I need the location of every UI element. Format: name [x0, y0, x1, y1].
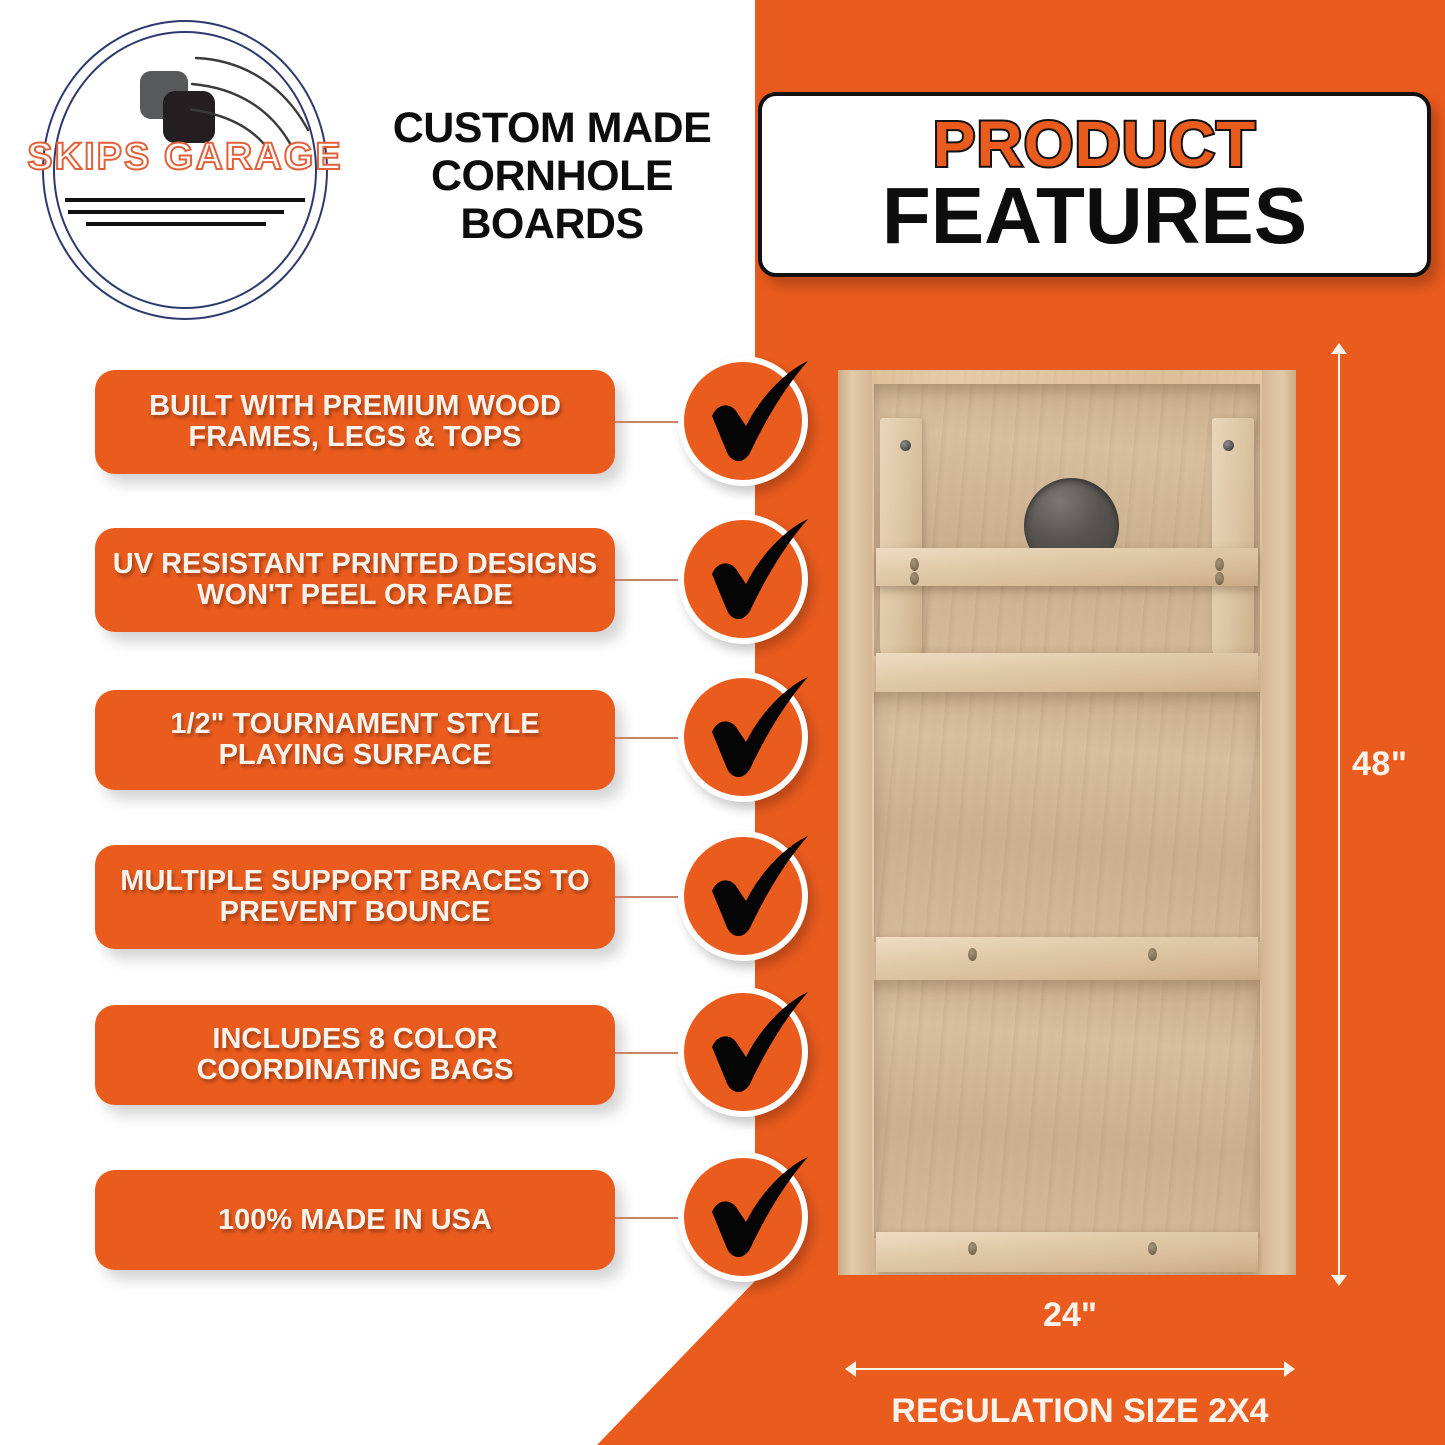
- height-dimension-arrow: [1338, 352, 1340, 1277]
- width-dimension-arrow: [855, 1368, 1285, 1370]
- feature-check-badge: [678, 672, 808, 802]
- feature-label: MULTIPLE SUPPORT BRACES TO PREVENT BOUNC…: [111, 866, 599, 927]
- feature-row: INCLUDES 8 COLOR COORDINATING BAGS: [0, 1005, 830, 1155]
- checkmark-icon: [684, 664, 814, 794]
- page-title: CUSTOM MADE CORNHOLE BOARDS: [352, 104, 752, 248]
- brace-screw: [910, 572, 919, 585]
- leg-bolt-left: [900, 440, 911, 451]
- brace-screw: [1148, 948, 1157, 961]
- board-leg-right: [1212, 418, 1254, 658]
- arrow-up-icon: [1331, 343, 1347, 354]
- board-support-brace: [876, 548, 1258, 586]
- feature-label: INCLUDES 8 COLOR COORDINATING BAGS: [111, 1024, 599, 1085]
- feature-check-badge: [678, 514, 808, 644]
- brace-screw: [968, 948, 977, 961]
- checkmark-icon: [684, 1144, 814, 1274]
- brand-logo[interactable]: SKIPS GARAGE: [20, 16, 350, 328]
- leg-bolt-right: [1223, 440, 1234, 451]
- logo-underline-3: [86, 222, 266, 226]
- board-rail-left: [838, 370, 872, 1275]
- feature-label: BUILT WITH PREMIUM WOOD FRAMES, LEGS & T…: [111, 391, 599, 452]
- logo-wordmark: SKIPS GARAGE: [20, 136, 350, 179]
- feature-row: 1/2" TOURNAMENT STYLE PLAYING SURFACE: [0, 690, 830, 840]
- arrow-down-icon: [1331, 1275, 1347, 1286]
- feature-row: UV RESISTANT PRINTED DESIGNS WON'T PEEL …: [0, 528, 830, 678]
- board-support-brace: [876, 937, 1258, 981]
- board-leg-left: [880, 418, 922, 658]
- logo-underline-group: [20, 198, 350, 234]
- product-features-banner: PRODUCT FEATURES: [758, 92, 1431, 277]
- brace-screw: [1215, 558, 1224, 571]
- banner-title-product: PRODUCT: [933, 114, 1256, 175]
- arrow-left-icon: [845, 1361, 856, 1377]
- checkmark-icon: [684, 506, 814, 636]
- brace-screw: [910, 558, 919, 571]
- feature-pill[interactable]: UV RESISTANT PRINTED DESIGNS WON'T PEEL …: [95, 528, 615, 632]
- feature-pill[interactable]: 100% MADE IN USA: [95, 1170, 615, 1270]
- brace-screw: [1215, 572, 1224, 585]
- board-rail-right: [1262, 370, 1296, 1275]
- feature-check-badge: [678, 987, 808, 1117]
- board-bottom-rail: [876, 1232, 1258, 1272]
- checkmark-icon: [684, 979, 814, 1109]
- product-photo: [838, 370, 1296, 1275]
- arrow-right-icon: [1284, 1361, 1295, 1377]
- checkmark-icon: [684, 823, 814, 953]
- board-cavity-bottom: [874, 980, 1260, 1238]
- infographic-stage: SKIPS GARAGE CUSTOM MADE CORNHOLE BOARDS…: [0, 0, 1445, 1445]
- feature-label: 100% MADE IN USA: [218, 1205, 492, 1236]
- feature-pill[interactable]: INCLUDES 8 COLOR COORDINATING BAGS: [95, 1005, 615, 1105]
- feature-row: MULTIPLE SUPPORT BRACES TO PREVENT BOUNC…: [0, 845, 830, 995]
- feature-label: UV RESISTANT PRINTED DESIGNS WON'T PEEL …: [111, 549, 599, 610]
- logo-underline-2: [68, 210, 284, 214]
- checkmark-icon: [684, 348, 814, 478]
- feature-row: 100% MADE IN USA: [0, 1170, 830, 1320]
- board-support-brace: [876, 653, 1258, 695]
- feature-check-badge: [678, 356, 808, 486]
- feature-pill[interactable]: 1/2" TOURNAMENT STYLE PLAYING SURFACE: [95, 690, 615, 790]
- feature-row: BUILT WITH PREMIUM WOOD FRAMES, LEGS & T…: [0, 370, 830, 520]
- logo-underline-1: [65, 198, 305, 202]
- feature-check-badge: [678, 831, 808, 961]
- feature-pill[interactable]: BUILT WITH PREMIUM WOOD FRAMES, LEGS & T…: [95, 370, 615, 474]
- feature-pill[interactable]: MULTIPLE SUPPORT BRACES TO PREVENT BOUNC…: [95, 845, 615, 949]
- brace-screw: [1148, 1242, 1157, 1255]
- regulation-size-note: REGULATION SIZE 2X4: [845, 1392, 1315, 1431]
- banner-title-features: FEATURES: [882, 178, 1307, 255]
- board-cavity-middle: [874, 692, 1260, 942]
- feature-check-badge: [678, 1152, 808, 1282]
- height-dimension-label: 48": [1352, 745, 1407, 784]
- width-dimension-label: 24": [855, 1296, 1285, 1335]
- brace-screw: [968, 1242, 977, 1255]
- feature-label: 1/2" TOURNAMENT STYLE PLAYING SURFACE: [111, 709, 599, 770]
